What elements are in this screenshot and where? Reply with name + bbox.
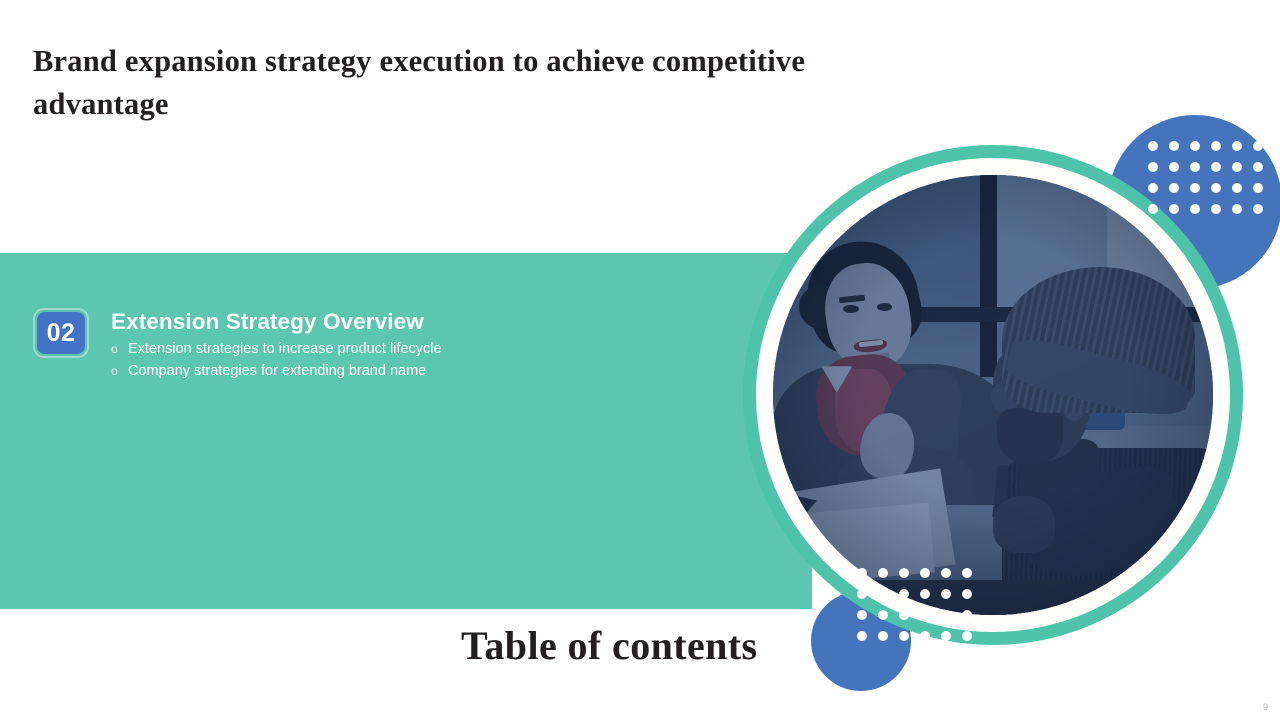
dot (857, 589, 867, 599)
dot (920, 589, 930, 599)
dot (1253, 183, 1263, 193)
dot (962, 568, 972, 578)
photo-frame (773, 175, 1213, 615)
dot (1148, 204, 1158, 214)
toc-bullet-label: Extension strategies to increase product… (128, 338, 442, 360)
dot (1148, 141, 1158, 151)
list-item: o Company strategies for extending brand… (111, 360, 442, 382)
meeting-photo-image (773, 175, 1213, 615)
dot (899, 631, 909, 641)
dot (1211, 183, 1221, 193)
dot (920, 631, 930, 641)
dot (1190, 141, 1200, 151)
dot (941, 631, 951, 641)
dot (1169, 183, 1179, 193)
dot (899, 610, 909, 620)
dot (878, 568, 888, 578)
toc-bullet-label: Company strategies for extending brand n… (128, 360, 426, 382)
dot (1232, 162, 1242, 172)
dot (1211, 162, 1221, 172)
dot (962, 631, 972, 641)
dot (1169, 141, 1179, 151)
dot (857, 568, 867, 578)
dot (1148, 183, 1158, 193)
toc-number-badge: 02 (33, 308, 89, 358)
slide-canvas: Brand expansion strategy execution to ac… (0, 0, 1280, 720)
dot (1211, 204, 1221, 214)
dot (962, 610, 972, 620)
dot-grid-top-right (1148, 141, 1263, 214)
dot (1253, 162, 1263, 172)
dot (878, 610, 888, 620)
dot (1232, 141, 1242, 151)
dot (941, 589, 951, 599)
dot (1232, 204, 1242, 214)
dot (1190, 183, 1200, 193)
teal-content-band (0, 253, 812, 609)
dot (920, 610, 930, 620)
dot (1169, 162, 1179, 172)
dot (962, 589, 972, 599)
dot (878, 589, 888, 599)
list-item: o Extension strategies to increase produ… (111, 338, 442, 360)
bullet-circle-icon: o (111, 340, 128, 358)
toc-number-badge-fill: 02 (37, 312, 85, 354)
dot-grid-bottom (857, 568, 972, 641)
dot (1211, 141, 1221, 151)
dot (899, 589, 909, 599)
dot (941, 610, 951, 620)
dot (899, 568, 909, 578)
toc-entry-02[interactable]: 02 Extension Strategy Overview o Extensi… (33, 308, 442, 382)
toc-number-label: 02 (47, 321, 76, 346)
dot (920, 568, 930, 578)
toc-text-block: Extension Strategy Overview o Extension … (111, 308, 442, 382)
page-number: 9 (1263, 702, 1268, 712)
dot (1148, 162, 1158, 172)
dot (1190, 204, 1200, 214)
dot (1190, 162, 1200, 172)
bullet-circle-icon: o (111, 362, 128, 380)
dot (857, 610, 867, 620)
toc-bullet-list: o Extension strategies to increase produ… (111, 338, 442, 382)
footer-heading: Table of contents (461, 622, 757, 669)
dot (1253, 204, 1263, 214)
dot (1232, 183, 1242, 193)
page-title: Brand expansion strategy execution to ac… (33, 40, 853, 127)
dot (1253, 141, 1263, 151)
dot (878, 631, 888, 641)
dot (1169, 204, 1179, 214)
toc-section-heading: Extension Strategy Overview (111, 309, 442, 335)
photo-circle (743, 145, 1243, 645)
dot (941, 568, 951, 578)
photo-vignette (773, 175, 1213, 615)
dot (857, 631, 867, 641)
